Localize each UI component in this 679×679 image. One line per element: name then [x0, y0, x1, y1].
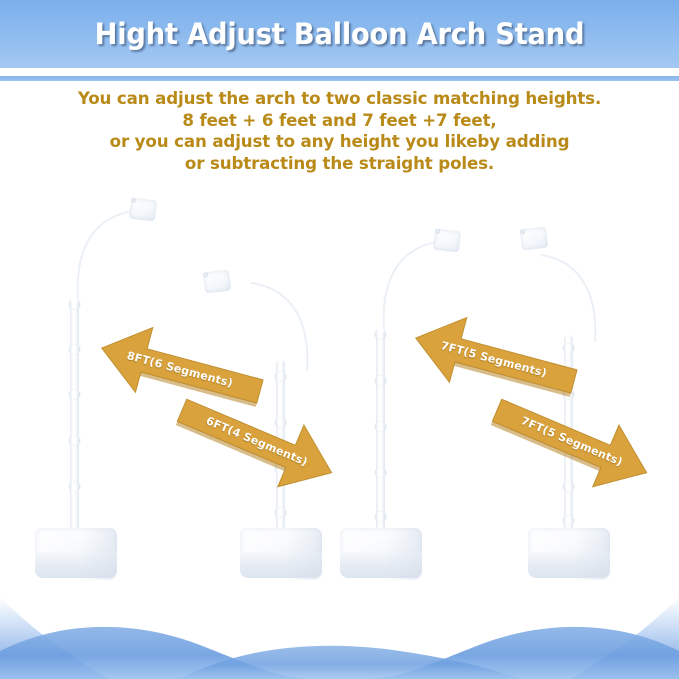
pole-joint: [69, 436, 80, 445]
pole-joint: [69, 390, 80, 399]
pole-shaft: [376, 320, 385, 542]
pole-joint: [69, 482, 80, 491]
pole-joint: [375, 422, 386, 431]
stand-base: [340, 528, 422, 580]
pole-joint: [69, 345, 80, 354]
pole-joint: [275, 508, 286, 517]
stand-base: [528, 528, 610, 580]
pole-end-cap: [203, 269, 231, 293]
stand-base: [240, 528, 322, 580]
pole-joint: [375, 512, 386, 521]
product-illustration: 8FT(6 Segments) 6FT(4 Segments) 7FT(5 Se…: [0, 0, 679, 679]
pole-end-cap: [520, 226, 548, 250]
pole-joint: [275, 372, 286, 381]
pole-end-cap: [129, 197, 157, 221]
pole-joint: [563, 516, 574, 525]
pole-curved-top: [503, 243, 613, 341]
stand-base: [35, 528, 117, 580]
pole-shaft: [70, 290, 79, 542]
pole-end-cap: [433, 228, 461, 252]
pole-joint: [375, 376, 386, 385]
pole-joint: [375, 468, 386, 477]
footer-wave-decoration: [0, 589, 679, 679]
pole-joint: [563, 482, 574, 491]
